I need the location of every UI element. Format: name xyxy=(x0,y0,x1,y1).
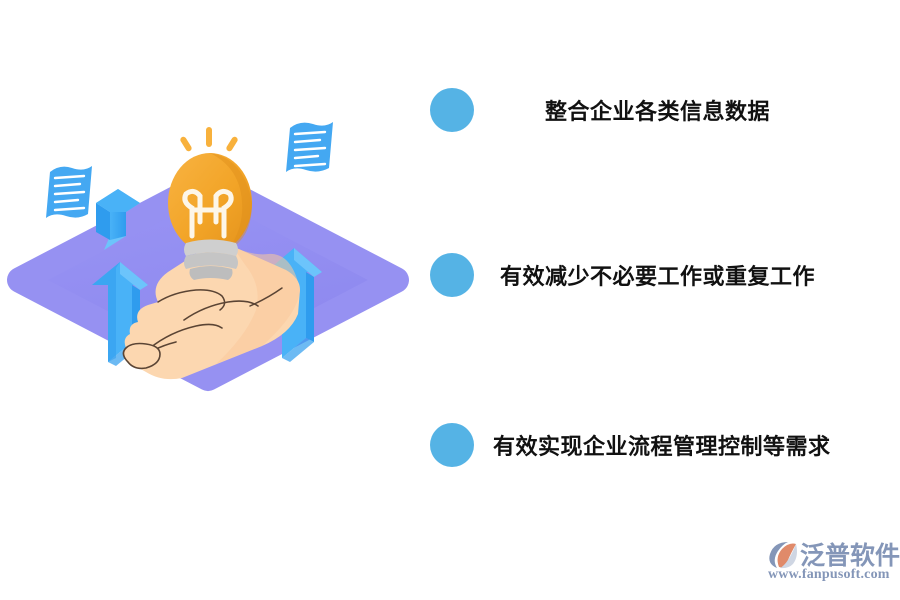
bulb-spark-rays xyxy=(179,127,239,152)
document-left-icon xyxy=(46,166,92,218)
list-item[interactable]: 有效减少不必要工作或重复工作 xyxy=(430,250,815,300)
bullet-label-1: 整合企业各类信息数据 xyxy=(545,94,770,126)
bullet-dot-icon xyxy=(430,88,474,132)
bulb-base xyxy=(184,240,238,281)
brand-logo[interactable]: 泛普软件 www.fanpusoft.com xyxy=(766,536,890,588)
list-item[interactable]: 整合企业各类信息数据 xyxy=(430,85,770,135)
bullet-dot-icon xyxy=(430,253,474,297)
bullet-label-3: 有效实现企业流程管理控制等需求 xyxy=(493,429,831,461)
list-item[interactable]: 有效实现企业流程管理控制等需求 xyxy=(430,420,831,470)
hand-lightbulb-illustration xyxy=(0,110,420,410)
slide-canvas: 整合企业各类信息数据 有效减少不必要工作或重复工作 有效实现企业流程管理控制等需… xyxy=(0,0,900,600)
fanpu-c-leaf-logo-icon xyxy=(766,540,800,570)
feature-bullet-list: 整合企业各类信息数据 有效减少不必要工作或重复工作 有效实现企业流程管理控制等需… xyxy=(430,70,890,490)
brand-website: www.fanpusoft.com xyxy=(768,567,890,583)
document-right-icon xyxy=(286,122,333,172)
bullet-label-2: 有效减少不必要工作或重复工作 xyxy=(500,259,815,291)
bullet-dot-icon xyxy=(430,423,474,467)
